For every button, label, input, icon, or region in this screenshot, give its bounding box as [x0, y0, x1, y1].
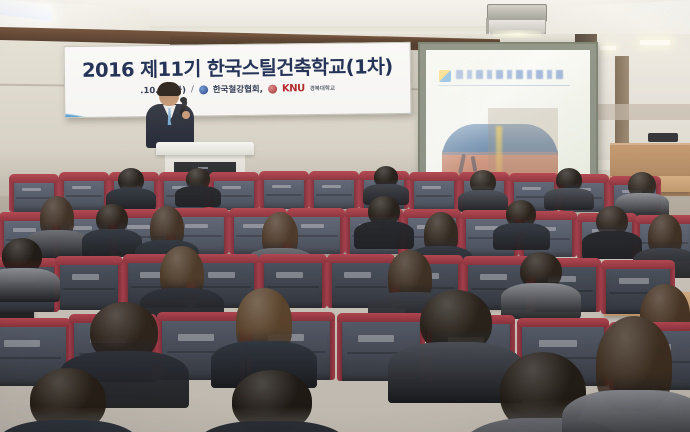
seat-crease — [178, 235, 222, 237]
audience-member — [520, 252, 562, 290]
audience-member — [424, 212, 458, 244]
audience-member — [96, 204, 128, 234]
seat-crease — [66, 195, 103, 197]
audience-member — [596, 316, 672, 386]
seat-plate — [301, 224, 324, 229]
seat-top-rim — [259, 171, 309, 180]
audience-member — [232, 370, 312, 432]
seat-plate — [322, 185, 341, 189]
seat-plate — [619, 278, 649, 284]
audience-member — [556, 168, 582, 192]
seat-plate — [185, 224, 208, 229]
audience-member — [420, 290, 492, 354]
seat-top-rim — [409, 172, 459, 181]
auditorium-seat — [412, 176, 456, 210]
seat-top-rim — [327, 254, 395, 263]
seat-top-rim — [209, 172, 259, 181]
seat-plate — [539, 340, 577, 347]
seat-crease — [316, 194, 353, 196]
audience-member — [160, 246, 204, 286]
lecture-hall-photo: 2016 제11기 한국스틸건축학교(1차) .10.25(화) / 한국철강협… — [0, 0, 690, 432]
audience-member — [506, 200, 536, 228]
seat-plate — [344, 272, 371, 278]
shoulders — [493, 223, 550, 250]
seat-top-rim — [259, 254, 327, 263]
seat-top-rim — [287, 208, 345, 217]
audience-member — [596, 206, 628, 236]
shoulders — [82, 229, 143, 258]
seat-plate — [178, 334, 214, 341]
audience-member — [186, 168, 210, 190]
seat-top-rim — [601, 260, 675, 269]
audience-member — [374, 166, 398, 188]
seat-back — [412, 176, 456, 210]
seat-plate — [4, 340, 40, 347]
audience-member — [2, 238, 42, 274]
audience-member — [40, 196, 74, 228]
seat-edge-left — [337, 314, 342, 381]
seat-top-rim — [517, 318, 609, 327]
seat-edge-right — [330, 313, 335, 380]
seat-crease — [416, 195, 453, 197]
seat-back — [58, 260, 120, 310]
shoulders — [175, 186, 221, 207]
seat-top-rim — [55, 256, 123, 265]
audience-seating — [0, 0, 690, 432]
seat-top-rim — [337, 313, 425, 322]
shoulders — [562, 390, 690, 432]
seat-plate — [72, 186, 91, 190]
shoulders — [544, 188, 593, 211]
seat-top-rim — [9, 174, 59, 183]
audience-member — [118, 168, 144, 192]
audience-member — [628, 172, 656, 198]
shoulders — [0, 268, 60, 302]
seat-back — [262, 175, 306, 209]
seat-crease — [335, 286, 387, 288]
shoulders — [501, 283, 581, 319]
audience-member — [648, 214, 682, 246]
seat-top-rim — [157, 312, 245, 321]
seat-crease — [199, 286, 251, 288]
seat-plate — [127, 225, 150, 230]
audience-member — [150, 206, 184, 238]
seat-crease — [0, 357, 61, 359]
seat-top-rim — [509, 173, 559, 182]
auditorium-seat — [312, 175, 356, 209]
seat-back — [312, 175, 356, 209]
audience-member — [30, 368, 106, 432]
seat-crease — [63, 288, 115, 290]
seat-top-rim — [59, 172, 109, 181]
seat-plate — [208, 272, 235, 278]
seat-plate — [22, 188, 41, 192]
seat-plate — [72, 274, 99, 280]
seat-plate — [358, 335, 394, 342]
seat-top-rim — [0, 318, 71, 327]
seat-plate — [13, 228, 36, 233]
shoulders — [196, 421, 348, 432]
seat-plate — [276, 272, 303, 278]
audience-member — [90, 302, 158, 362]
seat-plate — [422, 186, 441, 190]
seat-crease — [294, 235, 338, 237]
auditorium-seat — [58, 260, 120, 310]
seat-plate — [272, 185, 291, 189]
audience-member — [236, 288, 292, 338]
shoulders — [582, 231, 643, 260]
shoulders — [354, 221, 415, 250]
seat-crease — [266, 194, 303, 196]
audience-member — [368, 196, 400, 226]
audience-member — [262, 212, 298, 246]
audience-member — [388, 250, 432, 290]
seat-plate — [522, 187, 541, 191]
auditorium-seat — [262, 175, 306, 209]
seat-crease — [267, 286, 319, 288]
audience-member — [470, 170, 496, 194]
seat-plate — [480, 274, 507, 280]
seat-top-rim — [309, 171, 359, 180]
shoulders — [0, 420, 140, 432]
seat-plate — [222, 186, 241, 190]
seat-crease — [216, 195, 253, 197]
